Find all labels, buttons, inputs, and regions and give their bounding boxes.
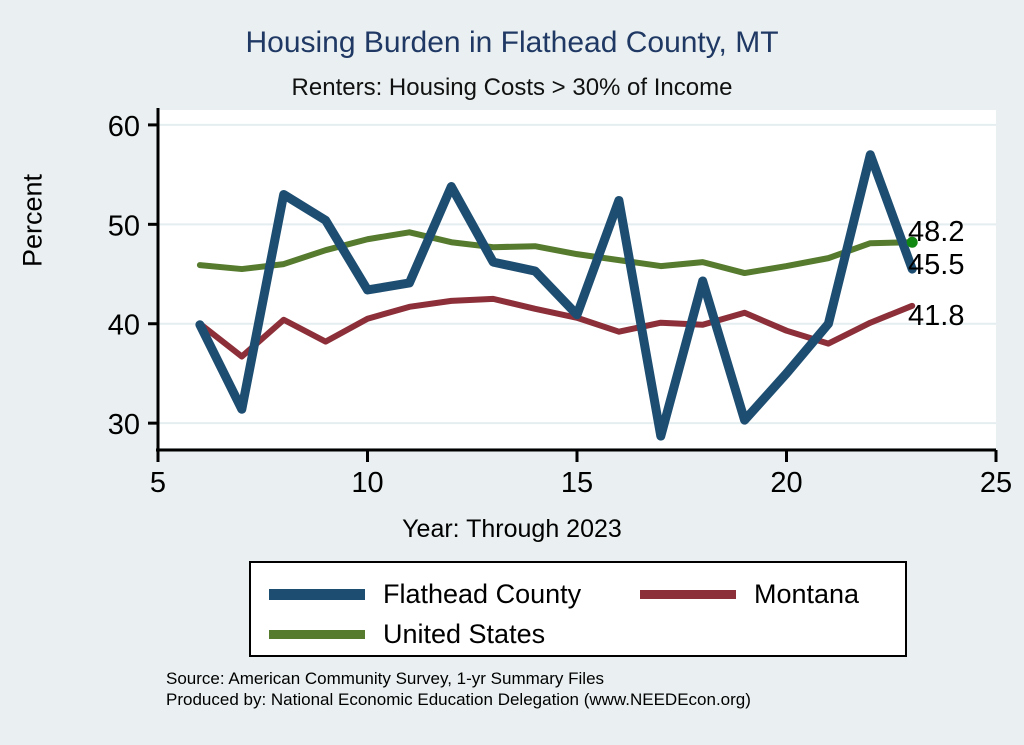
x-axis-ticks: 510152025 bbox=[150, 450, 1012, 499]
footnote-source-line: Source: American Community Survey, 1-yr … bbox=[166, 669, 604, 688]
legend-label-flathead-county: Flathead County bbox=[383, 579, 581, 610]
chart-legend: Flathead County Montana United States bbox=[249, 561, 907, 657]
legend-swatch-united-states bbox=[269, 630, 365, 639]
y-tick-label: 30 bbox=[108, 409, 140, 441]
legend-label-united-states: United States bbox=[383, 619, 545, 650]
end-label-flathead-county: 45.5 bbox=[908, 249, 964, 282]
legend-item-montana[interactable]: Montana bbox=[640, 579, 859, 610]
x-tick-label: 5 bbox=[150, 467, 166, 499]
y-axis-ticks: 30405060 bbox=[108, 111, 158, 441]
end-label-montana: 41.8 bbox=[908, 300, 964, 333]
x-tick-label: 10 bbox=[351, 467, 383, 499]
legend-swatch-flathead-county bbox=[269, 589, 365, 600]
legend-item-flathead-county[interactable]: Flathead County bbox=[269, 579, 581, 610]
x-tick-label: 15 bbox=[561, 467, 593, 499]
footnote: Source: American Community Survey, 1-yr … bbox=[166, 668, 751, 710]
end-label-united-states: 48.2 bbox=[908, 216, 964, 249]
x-tick-label: 25 bbox=[980, 467, 1012, 499]
x-tick-label: 20 bbox=[770, 467, 802, 499]
legend-swatch-montana bbox=[640, 590, 736, 599]
y-tick-label: 60 bbox=[108, 111, 140, 143]
y-tick-label: 40 bbox=[108, 310, 140, 342]
chart-canvas: Housing Burden in Flathead County, MT Re… bbox=[0, 0, 1024, 745]
footnote-producer-line: Produced by: National Economic Education… bbox=[166, 690, 751, 709]
legend-label-montana: Montana bbox=[754, 579, 859, 610]
legend-item-united-states[interactable]: United States bbox=[269, 619, 545, 650]
y-tick-label: 50 bbox=[108, 210, 140, 242]
